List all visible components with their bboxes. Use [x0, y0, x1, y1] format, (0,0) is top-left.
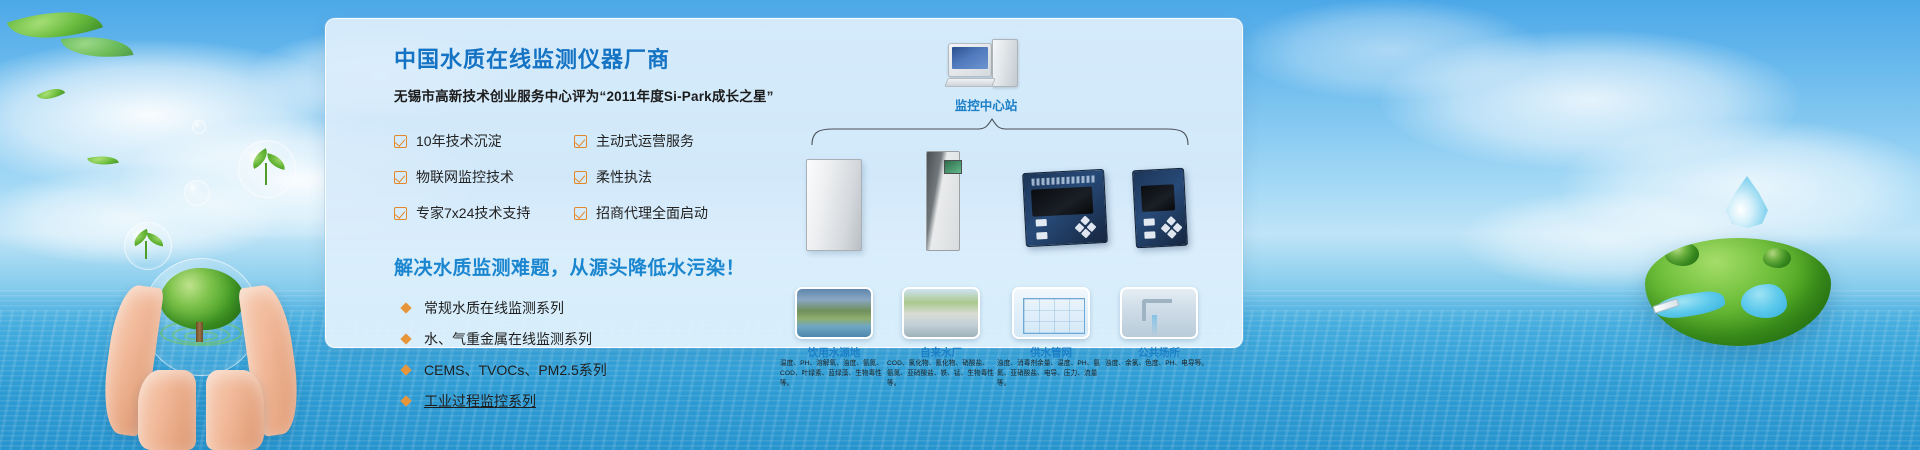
- bubble-small-icon: [192, 120, 206, 134]
- device-tall-column-analyzer: [926, 151, 960, 251]
- marketing-copy-column: 中国水质在线监测仪器厂商 无锡市高新技术创业服务中心评为“2011年度Si-Pa…: [394, 47, 789, 422]
- sprout-stem: [265, 163, 267, 185]
- checklist-item: 10年技术沉淀: [394, 131, 574, 151]
- checklist-item: 物联网监控技术: [394, 167, 574, 187]
- checklist-item-label: 柔性执法: [596, 167, 652, 187]
- pc-keyboard-icon: [944, 78, 996, 87]
- device-water-cabinet-analyzer: [806, 159, 862, 251]
- analyzer-display-icon: [944, 160, 962, 174]
- checkbox-checked-icon: [574, 171, 587, 184]
- scenario-title: 自来水厂: [886, 345, 996, 360]
- floating-leaf-icon: [37, 82, 66, 105]
- pc-tower-icon: [992, 39, 1018, 87]
- bubble-with-sprout-icon: [124, 222, 172, 270]
- globe-tree-icon: [1665, 242, 1699, 266]
- checkbox-checked-icon: [394, 135, 407, 148]
- checklist-item-label: 主动式运营服务: [596, 131, 694, 151]
- checklist-item: 柔性执法: [574, 167, 789, 187]
- scenario-thumbnail-supply-network[interactable]: [1012, 287, 1090, 339]
- panel-brand-text-icon: [1031, 175, 1095, 185]
- cloud-decor: [1560, 120, 1920, 250]
- panel-button-icon: [1144, 218, 1155, 226]
- list-item-label: 常规水质在线监测系列: [424, 298, 564, 318]
- bubble-with-sprout-icon: [238, 140, 296, 198]
- checkbox-checked-icon: [394, 207, 407, 220]
- list-item[interactable]: 常规水质在线监测系列: [394, 298, 789, 318]
- panel-lcd-screen-icon: [1031, 186, 1093, 217]
- floating-leaf-icon: [87, 152, 119, 169]
- scenario-parameters: 温度、PH、溶解氧、浊度、氨氮、COD、叶绿素、蓝绿藻、生物毒性等。: [780, 359, 888, 390]
- scenario-parameters: 浊度、消毒剂余量、温度、PH、氨氮、亚硝酸盐、电导、压力、流量等。: [997, 359, 1105, 390]
- product-series-list: 常规水质在线监测系列 水、气重金属在线监测系列 CEMS、TVOCs、PM2.5…: [394, 298, 789, 411]
- diamond-bullet-icon: [400, 365, 411, 376]
- feature-checklist: 10年技术沉淀 主动式运营服务 物联网监控技术 柔性执法 专家7x24技术支持: [394, 131, 789, 223]
- panel-dpad-icon: [1076, 216, 1097, 237]
- section-tagline: 解决水质监测难题，从源头降低水污染！: [394, 253, 789, 280]
- scenario-title: 饮用水源地: [779, 345, 889, 360]
- checkbox-checked-icon: [574, 207, 587, 220]
- left-palm-icon: [138, 370, 196, 450]
- cloud-decor: [1380, 30, 1800, 170]
- panel-lcd-screen-icon: [1141, 184, 1175, 212]
- checklist-item: 招商代理全面启动: [574, 203, 789, 223]
- list-item-label: 工业过程监控系列: [424, 391, 536, 411]
- checklist-item-label: 专家7x24技术支持: [416, 203, 530, 223]
- page-title: 中国水质在线监测仪器厂商: [394, 47, 789, 73]
- list-item[interactable]: 水、气重金属在线监测系列: [394, 329, 789, 349]
- diamond-bullet-icon: [400, 396, 411, 407]
- content-panel: 中国水质在线监测仪器厂商 无锡市高新技术创业服务中心评为“2011年度Si-Pa…: [325, 18, 1243, 348]
- scenario-parameters: 浊度、余氯、色度、PH、电导等。: [1105, 359, 1213, 369]
- list-item-label: CEMS、TVOCs、PM2.5系列: [424, 360, 607, 380]
- bubble-medium-icon: [184, 180, 210, 206]
- globe-lake-icon: [1741, 284, 1787, 318]
- scenario-title: 公共场所: [1104, 345, 1214, 360]
- monitoring-center-pc-icon: [948, 39, 1022, 91]
- right-palm-icon: [206, 370, 264, 450]
- panel-dpad-icon: [1162, 217, 1183, 238]
- award-subtitle: 无锡市高新技术创业服务中心评为“2011年度Si-Park成长之星”: [394, 85, 789, 105]
- checklist-item: 主动式运营服务: [574, 131, 789, 151]
- checklist-item-label: 10年技术沉淀: [416, 131, 502, 151]
- center-node-label: 监控中心站: [906, 95, 1066, 114]
- diamond-bullet-icon: [400, 334, 411, 345]
- cloud-decor: [0, 40, 360, 190]
- pc-screen-icon: [952, 47, 988, 69]
- checklist-item: 专家7x24技术支持: [394, 203, 574, 223]
- checkbox-checked-icon: [574, 135, 587, 148]
- water-droplet-icon: [1726, 176, 1768, 228]
- tree-trunk-icon: [196, 322, 203, 342]
- device-panel-controller-narrow: [1132, 168, 1188, 249]
- panel-button-icon: [1036, 232, 1047, 240]
- checklist-item-label: 物联网监控技术: [416, 167, 514, 187]
- tree-canopy-icon: [160, 268, 244, 330]
- checklist-item-label: 招商代理全面启动: [596, 203, 708, 223]
- topology-connector-lines: [810, 117, 1190, 147]
- scenario-title: 供水管网: [996, 345, 1106, 360]
- system-topology-diagram: 监控中心站: [776, 33, 1236, 343]
- cloud-decor: [1240, 0, 1540, 100]
- water-quality-banner: 中国水质在线监测仪器厂商 无锡市高新技术创业服务中心评为“2011年度Si-Pa…: [0, 0, 1920, 450]
- list-item-label: 水、气重金属在线监测系列: [424, 329, 592, 349]
- globe-tree-icon: [1763, 248, 1791, 268]
- scenario-thumbnail-public-places[interactable]: [1120, 287, 1198, 339]
- panel-button-icon: [1035, 219, 1046, 227]
- device-panel-controller-wide: [1022, 169, 1108, 247]
- list-item[interactable]: 工业过程监控系列: [394, 391, 789, 411]
- sprout-stem: [145, 241, 147, 259]
- pc-monitor-icon: [948, 43, 992, 77]
- diamond-bullet-icon: [400, 303, 411, 314]
- list-item[interactable]: CEMS、TVOCs、PM2.5系列: [394, 360, 789, 380]
- scenario-thumbnail-water-plant[interactable]: [902, 287, 980, 339]
- scenario-thumbnail-drinking-water-source[interactable]: [795, 287, 873, 339]
- scenario-parameters: COD、氯化物、氰化物、硝酸盐、氨氮、亚硝酸盐、铁、锰、生物毒性等。: [887, 359, 995, 390]
- checkbox-checked-icon: [394, 171, 407, 184]
- panel-button-icon: [1144, 231, 1155, 239]
